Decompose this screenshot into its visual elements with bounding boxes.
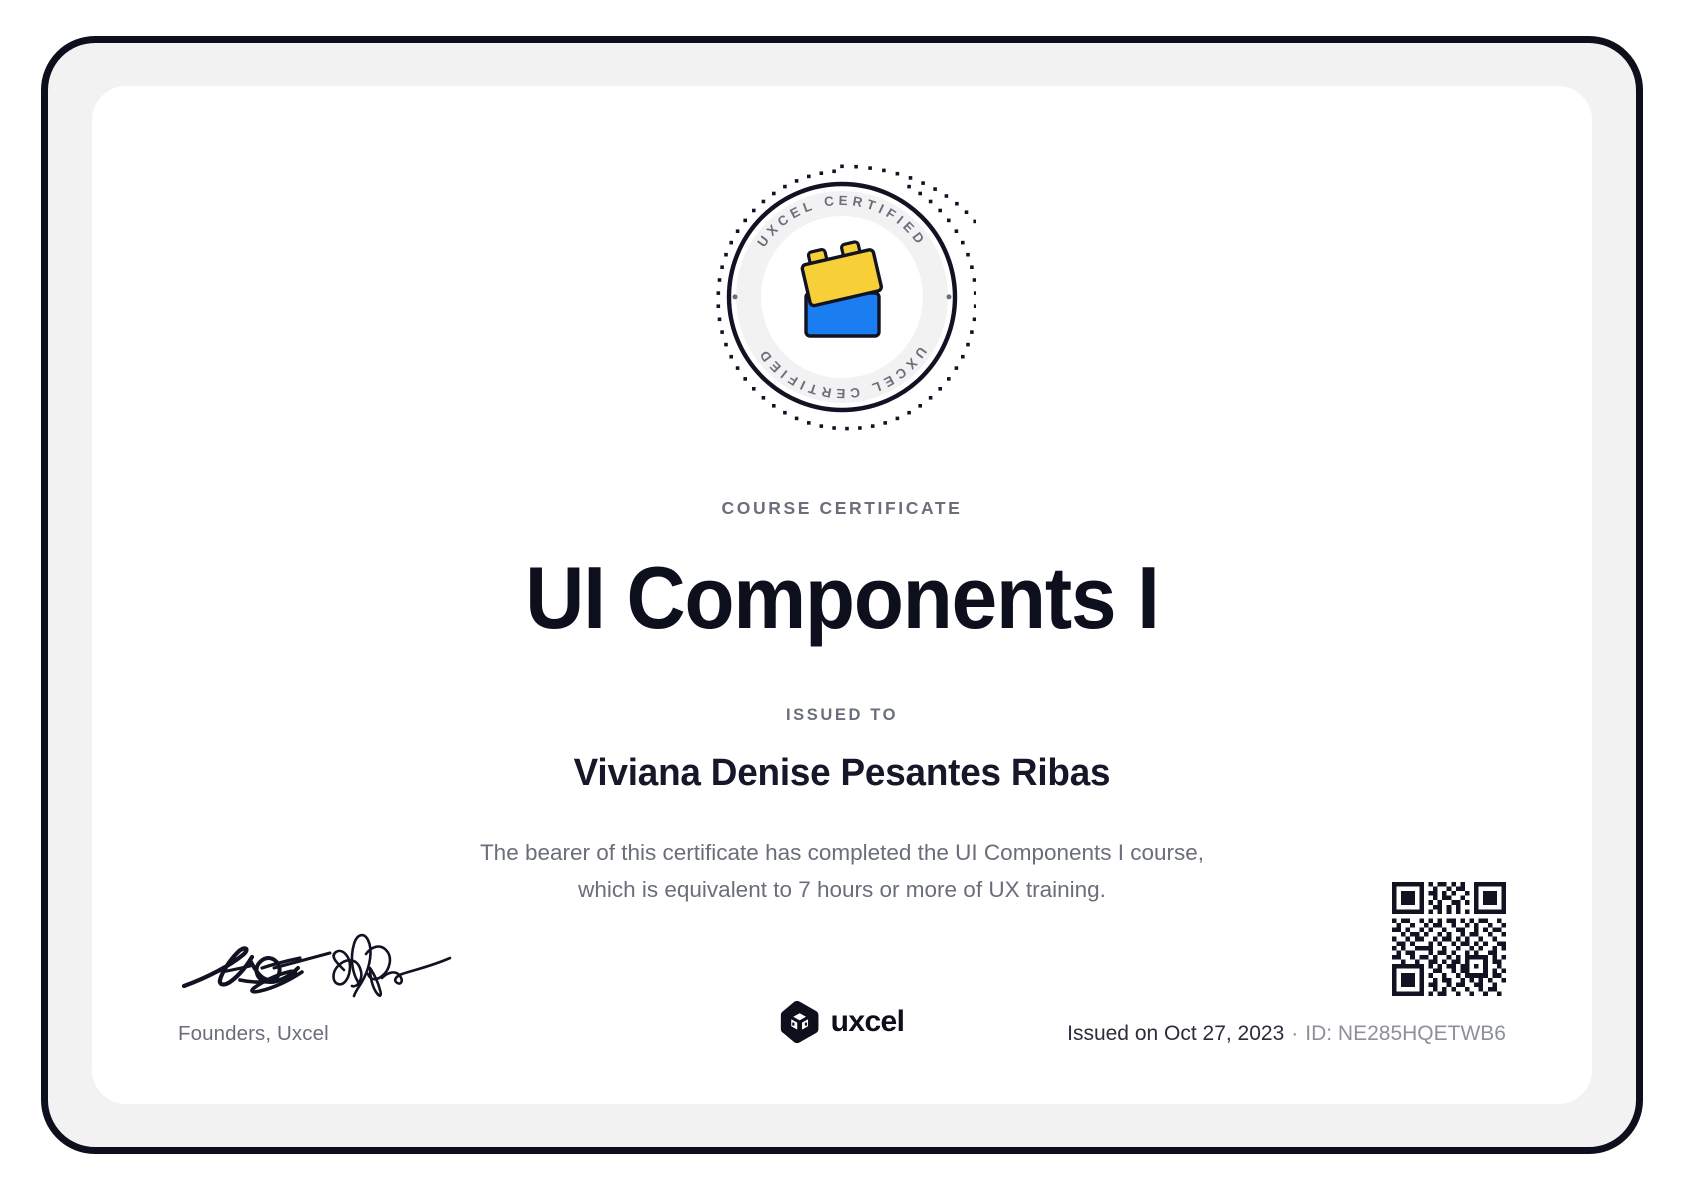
page-title: UI Components I — [145, 548, 1540, 648]
description-line-1: The bearer of this certificate has compl… — [462, 834, 1222, 871]
meta-separator: · — [1284, 1022, 1305, 1045]
certification-badge: UXCEL CERTIFIED UXCEL CERTIFIED — [708, 163, 976, 431]
qr-code-icon[interactable] — [1392, 882, 1506, 996]
issue-meta-line: Issued on Oct 27, 2023·ID: NE285HQETWB6 — [1067, 1022, 1506, 1046]
recipient-name: Viviana Denise Pesantes Ribas — [115, 748, 1570, 798]
signature-caption: Founders, Uxcel — [178, 1022, 498, 1046]
handwritten-signature-icon — [178, 928, 468, 1006]
certificate-meta: Issued on Oct 27, 2023·ID: NE285HQETWB6 — [1067, 882, 1506, 1046]
certificate-id: ID: NE285HQETWB6 — [1305, 1022, 1506, 1045]
certificate-card: UXCEL CERTIFIED UXCEL CERTIFIED — [92, 86, 1592, 1104]
uxcel-hexagon-cube-icon — [780, 1000, 820, 1044]
certificate-type-label: COURSE CERTIFICATE — [92, 498, 1592, 519]
issue-date: Issued on Oct 27, 2023 — [1067, 1022, 1284, 1045]
badge-seal-icon: UXCEL CERTIFIED UXCEL CERTIFIED — [708, 163, 976, 431]
brand-logo: uxcel — [780, 1000, 905, 1044]
brand-name: uxcel — [831, 1005, 905, 1039]
issued-to-label: ISSUED TO — [92, 706, 1592, 725]
certificate-outer-frame: UXCEL CERTIFIED UXCEL CERTIFIED — [41, 36, 1643, 1154]
signature-block: Founders, Uxcel — [178, 928, 498, 1046]
